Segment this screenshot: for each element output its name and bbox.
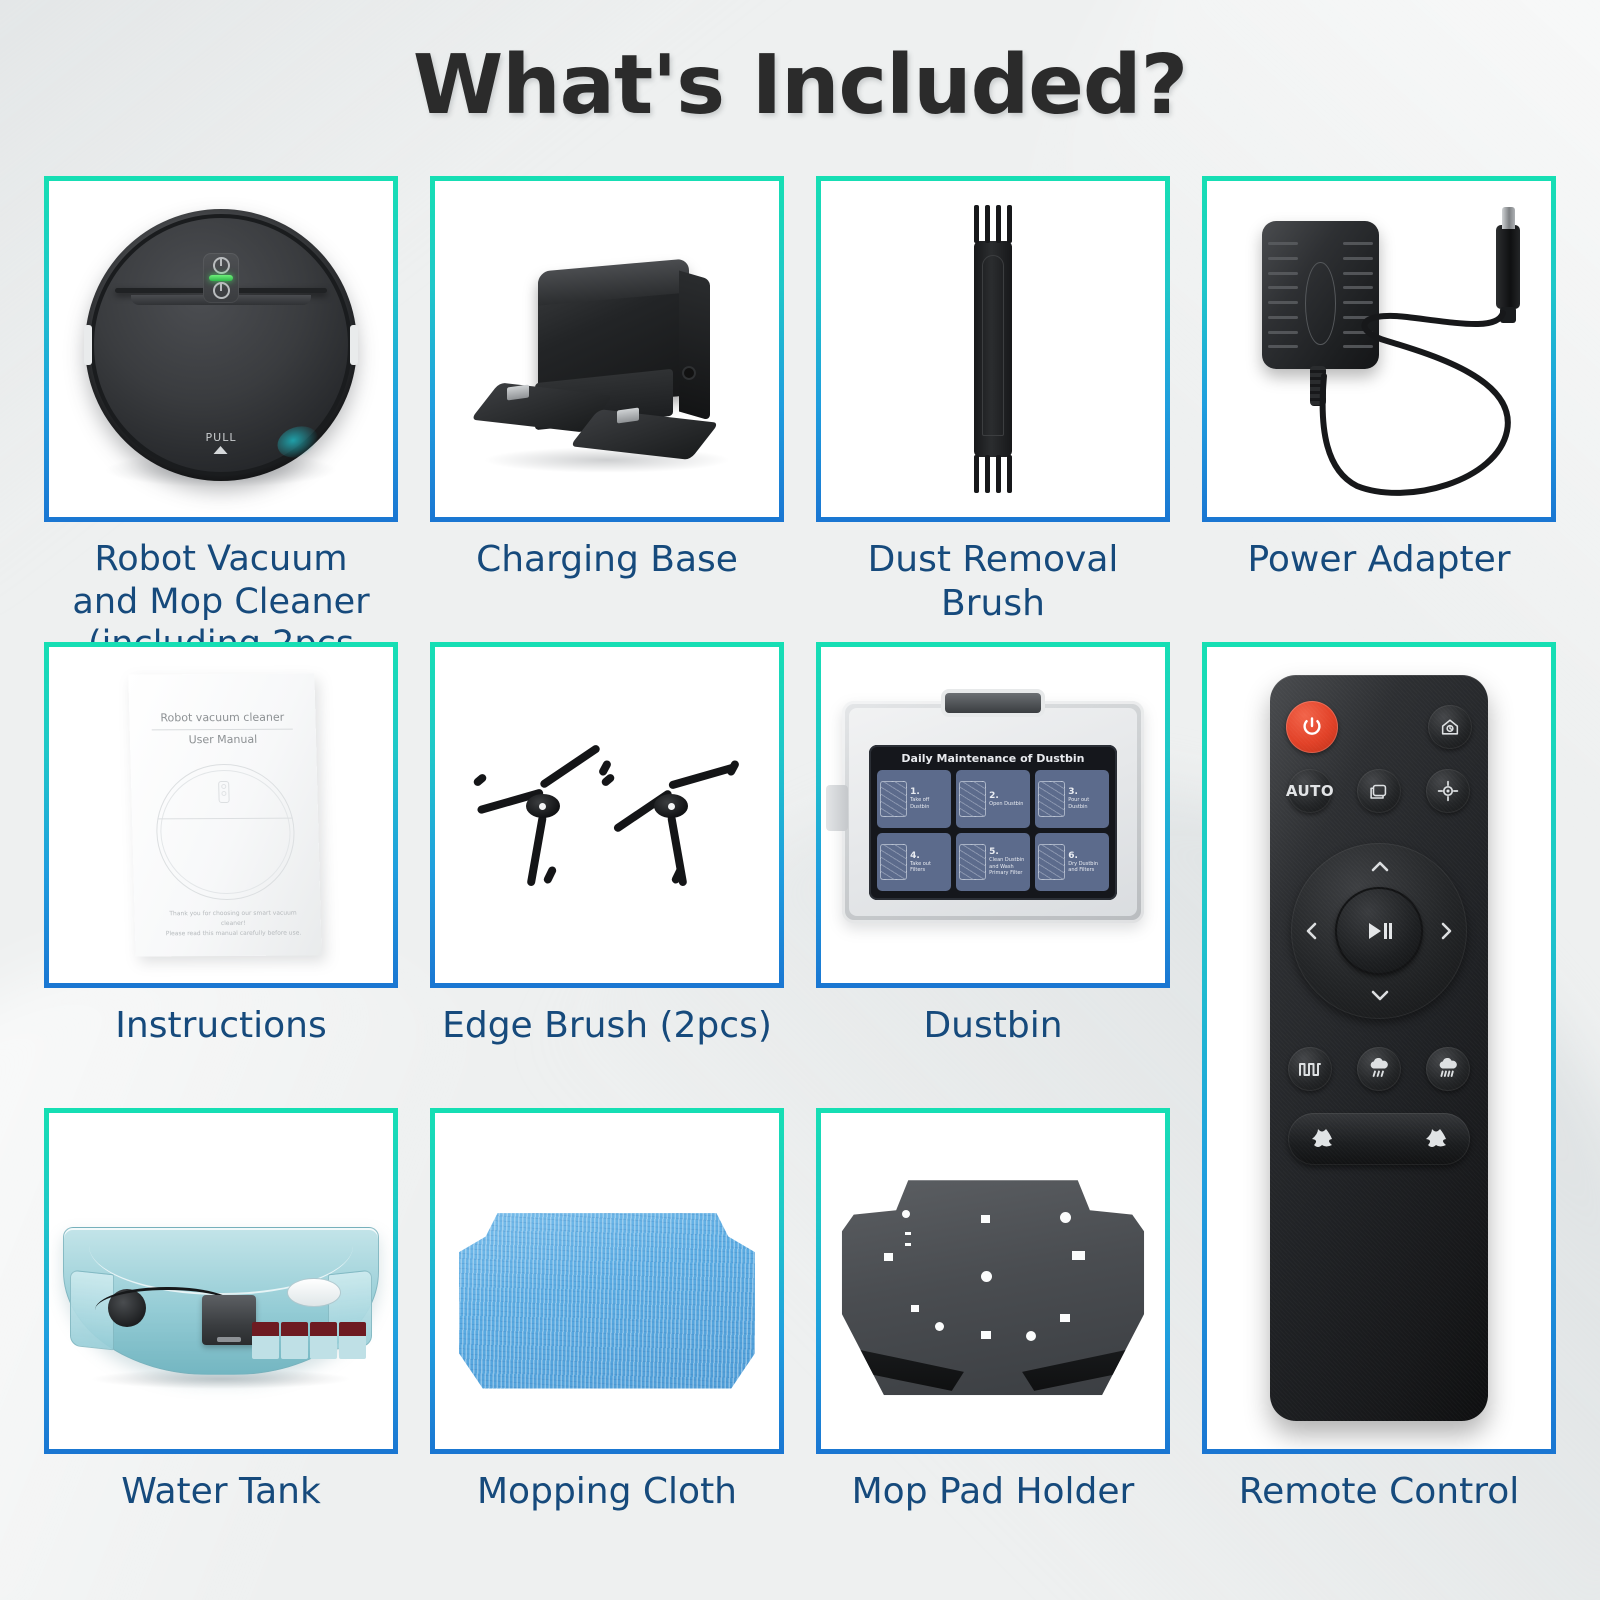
item-image-dustbin: Daily Maintenance of Dustbin 1.Take off … [821,647,1165,983]
home-dock-icon [1439,716,1461,738]
item-caption-mopping-cloth: Mopping Cloth [430,1470,784,1514]
step-label: Take out Filters [910,861,948,874]
item-power-adapter[interactable]: Power Adapter [1202,176,1556,582]
item-caption-water-tank: Water Tank [44,1470,398,1514]
item-frame-power-adapter [1202,176,1556,522]
step-number: 3. [1068,788,1106,797]
auto-icon: AUTO [1286,782,1334,800]
item-dustbin[interactable]: Daily Maintenance of Dustbin 1.Take off … [816,642,1170,1048]
step-number: 1. [910,788,948,797]
item-image-water-tank [49,1113,393,1449]
edge-brush-icon [435,647,779,983]
power-icon [1300,715,1324,739]
item-caption-dustbin: Dustbin [816,1004,1170,1048]
step-label: Open Dustbin [989,801,1027,807]
manual-title-line1: Robot vacuum cleaner [147,710,296,724]
item-image-power-adapter [1207,181,1551,517]
item-image-edge-brush [435,647,779,983]
dustbin-step: 1.Take off Dustbin [877,770,951,828]
water-tank-instruction-sticker [252,1322,365,1360]
status-led [209,275,233,281]
product-contents-grid: PULL Robot Vacuum and Mop Cleaner (inclu… [44,176,1558,1576]
item-image-mop-pad-holder [821,1113,1165,1449]
step-illustration [1038,844,1065,880]
step-label: Pour out Dustbin [1068,797,1106,810]
item-mopping-cloth[interactable]: Mopping Cloth [430,1108,784,1514]
item-image-robot-vacuum: PULL [49,181,393,517]
remote-auto-button[interactable]: AUTO [1288,769,1332,813]
item-image-charging-base [435,181,779,517]
chevron-down-icon[interactable] [1370,985,1390,1007]
dustbin-step: 3.Pour out Dustbin [1035,770,1109,828]
remote-water-low-button[interactable] [1357,1047,1401,1091]
remote-zigzag-button[interactable] [1288,1047,1332,1091]
water-tank-module [202,1295,255,1345]
area-clean-icon [1368,780,1390,802]
item-caption-edge-brush: Edge Brush (2pcs) [430,1004,784,1048]
manual-footer: Thank you for choosing our smart vacuum … [164,908,302,939]
remote-control-icon: AUTO [1207,647,1551,1449]
dustbin-step: 4.Take out Filters [877,833,951,891]
dustbin-step: 5.Clean Dustbin and Wash Primary Filter [956,833,1030,891]
item-charging-base[interactable]: Charging Base [430,176,784,582]
mopping-cloth-icon [435,1113,779,1449]
adapter-cable [1207,181,1551,517]
instructions-icon: Robot vacuum cleaner User Manual Thank y… [49,647,393,983]
pull-text: PULL [206,431,237,444]
item-frame-edge-brush [430,642,784,988]
chevron-left-icon[interactable] [1304,921,1318,945]
item-image-mopping-cloth [435,1113,779,1449]
step-illustration [880,844,907,880]
item-robot-vacuum[interactable]: PULL Robot Vacuum and Mop Cleaner (inclu… [44,176,398,709]
dust-removal-brush-icon [821,181,1165,517]
remote-suction-rocker[interactable] [1288,1113,1470,1165]
zigzag-path-icon [1297,1060,1323,1078]
pull-label: PULL [206,431,237,454]
dustbin-latch [945,693,1041,713]
item-caption-instructions: Instructions [44,1004,398,1048]
water-low-icon [1367,1058,1391,1080]
remote-area-button[interactable] [1357,769,1401,813]
item-frame-dustbin: Daily Maintenance of Dustbin 1.Take off … [816,642,1170,988]
step-label: Dry Dustbin and Filters [1068,861,1106,874]
remote-power-button[interactable] [1286,701,1338,753]
mop-pad-holder-icon [821,1113,1165,1449]
item-instructions[interactable]: Robot vacuum cleaner User Manual Thank y… [44,642,398,1048]
item-water-tank[interactable]: Water Tank [44,1108,398,1514]
water-high-icon [1436,1058,1460,1080]
dustbin-step: 2.Open Dustbin [956,770,1030,828]
remote-spot-button[interactable] [1426,769,1470,813]
dustbin-label-title: Daily Maintenance of Dustbin [877,752,1109,765]
chevron-right-icon[interactable] [1440,921,1454,945]
step-label: Clean Dustbin and Wash Primary Filter [989,857,1027,876]
remote-dock-button[interactable] [1428,705,1472,749]
step-number: 2. [989,792,1027,801]
chevron-up-icon[interactable] [1370,855,1390,877]
item-mop-pad-holder[interactable]: Mop Pad Holder [816,1108,1170,1514]
item-frame-dust-removal-brush [816,176,1170,522]
item-edge-brush[interactable]: Edge Brush (2pcs) [430,642,784,1048]
page-title: What's Included? [0,38,1600,133]
item-frame-mop-pad-holder [816,1108,1170,1454]
dock-icon [213,282,230,299]
dustbin-step: 6.Dry Dustbin and Filters [1035,833,1109,891]
step-illustration [959,781,986,817]
item-caption-charging-base: Charging Base [430,538,784,582]
dustbin-step-grid: 1.Take off Dustbin 2.Open Dustbin 3.Pour… [877,770,1109,891]
item-remote-control[interactable]: AUTO [1202,642,1556,1514]
step-illustration [1038,781,1065,817]
item-frame-robot-vacuum: PULL [44,176,398,522]
item-caption-mop-pad-holder: Mop Pad Holder [816,1470,1170,1514]
robot-vacuum-icon: PULL [85,209,357,481]
item-dust-removal-brush[interactable]: Dust Removal Brush [816,176,1170,626]
remote-play-pause-button[interactable] [1335,887,1423,975]
charging-base-icon [435,181,779,517]
step-illustration [959,844,986,880]
water-tank-icon [49,1113,393,1449]
fan-speed-minus-icon[interactable] [1308,1125,1336,1153]
dustbin-clip [826,785,848,831]
step-illustration [880,781,907,817]
power-adapter-icon [1207,181,1551,517]
remote-water-high-button[interactable] [1426,1047,1470,1091]
item-caption-power-adapter: Power Adapter [1202,538,1556,582]
dustbin-maintenance-label: Daily Maintenance of Dustbin 1.Take off … [869,745,1117,900]
item-image-remote-control: AUTO [1207,647,1551,1449]
step-label: Take off Dustbin [910,797,948,810]
step-number: 5. [989,848,1027,857]
item-image-dust-removal-brush [821,181,1165,517]
item-frame-charging-base [430,176,784,522]
manual-title-line2: User Manual [148,733,297,747]
item-caption-remote-control: Remote Control [1202,1470,1556,1514]
dustbin-icon: Daily Maintenance of Dustbin 1.Take off … [821,647,1165,983]
remote-body: AUTO [1270,675,1488,1421]
water-fill-cap [287,1278,340,1307]
step-number: 6. [1068,852,1106,861]
item-frame-water-tank [44,1108,398,1454]
power-icon [213,257,230,274]
step-number: 4. [910,852,948,861]
play-pause-icon [1365,921,1393,941]
item-caption-dust-removal-brush: Dust Removal Brush [816,538,1170,626]
item-frame-mopping-cloth [430,1108,784,1454]
item-frame-instructions: Robot vacuum cleaner User Manual Thank y… [44,642,398,988]
robot-control-panel [203,253,239,303]
infographic-page: What's Included? [0,0,1600,1600]
item-frame-remote-control: AUTO [1202,642,1556,1454]
item-image-instructions: Robot vacuum cleaner User Manual Thank y… [49,647,393,983]
remote-dpad[interactable] [1291,843,1467,1019]
fan-speed-plus-icon[interactable] [1422,1125,1450,1153]
spot-clean-icon [1436,779,1460,803]
